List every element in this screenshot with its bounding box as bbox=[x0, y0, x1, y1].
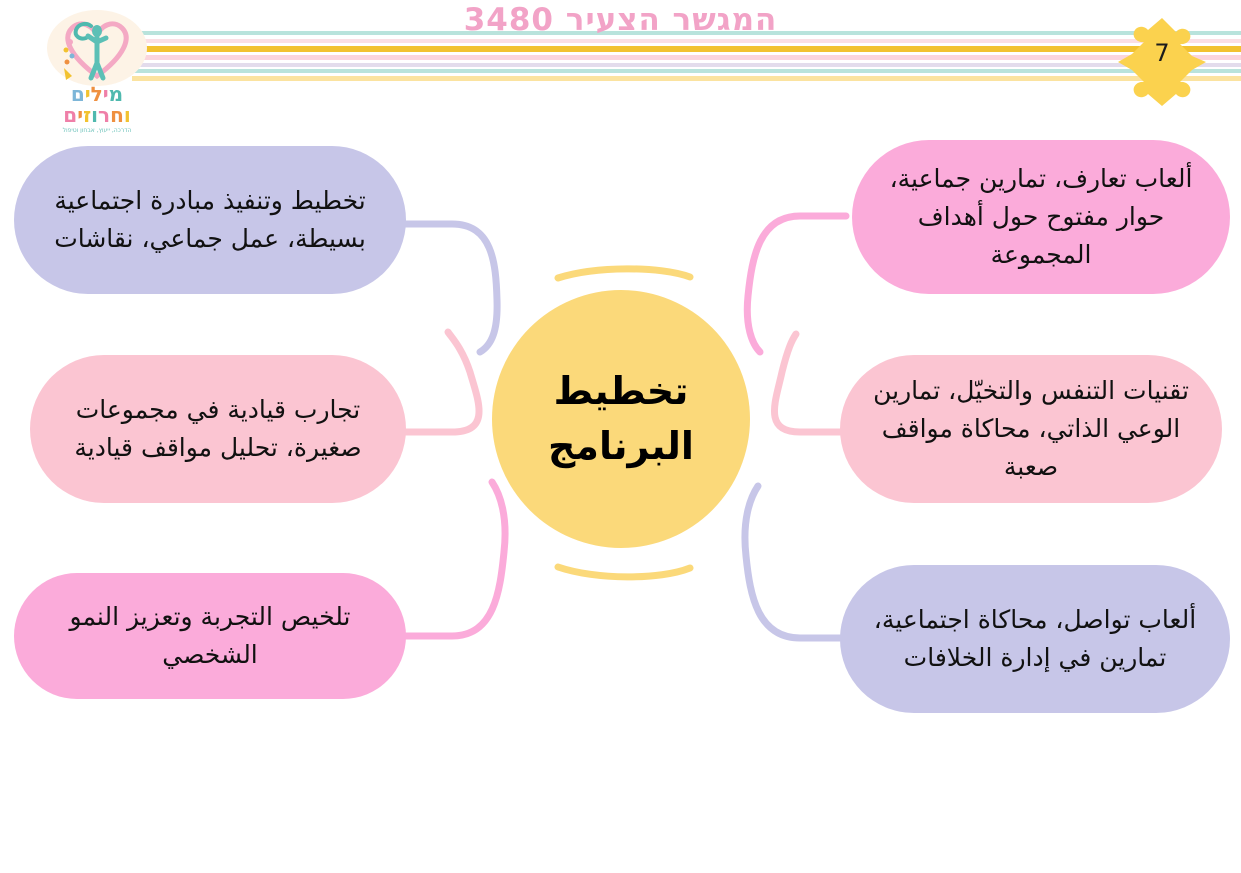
center-node-label: تخطيط البرنامج bbox=[492, 364, 750, 474]
branch-node-left-top[interactable]: تخطيط وتنفيذ مبادرة اجتماعية بسيطة، عمل … bbox=[14, 146, 406, 294]
branch-node-left-bottom[interactable]: تلخيص التجربة وتعزيز النمو الشخصي bbox=[14, 573, 406, 699]
branch-node-label: تجارب قيادية في مجموعات صغيرة، تحليل موا… bbox=[56, 391, 380, 467]
logo: מילים וחרוזים הדרכה, ייעוץ, אבחון וטיפול bbox=[36, 8, 158, 134]
branch-node-right-middle[interactable]: تقنيات التنفس والتخيّل، تمارين الوعي الذ… bbox=[840, 355, 1222, 503]
page-number: 7 bbox=[1114, 39, 1210, 67]
branch-node-label: تخطيط وتنفيذ مبادرة اجتماعية بسيطة، عمل … bbox=[40, 182, 380, 258]
branch-node-right-top[interactable]: ألعاب تعارف، تمارين جماعية، حوار مفتوح ح… bbox=[852, 140, 1230, 294]
branch-node-left-middle[interactable]: تجارب قيادية في مجموعات صغيرة، تحليل موا… bbox=[30, 355, 406, 503]
branch-node-label: تقنيات التنفس والتخيّل، تمارين الوعي الذ… bbox=[866, 372, 1196, 486]
logo-tagline: הדרכה, ייעוץ, אבחון וטיפול bbox=[36, 128, 158, 134]
branch-node-label: تلخيص التجربة وتعزيز النمو الشخصي bbox=[40, 598, 380, 674]
slide-canvas: המגשר הצעיר 3480 מילים וחרוזים הדרכה, יי… bbox=[0, 0, 1241, 873]
branch-node-right-bottom[interactable]: ألعاب تواصل، محاكاة اجتماعية، تمارين في … bbox=[840, 565, 1230, 713]
branch-node-label: ألعاب تعارف، تمارين جماعية، حوار مفتوح ح… bbox=[878, 160, 1204, 274]
page-title: המגשר הצעיר 3480 bbox=[0, 2, 1241, 38]
center-node[interactable]: تخطيط البرنامج bbox=[492, 290, 750, 548]
logo-line-1: מילים bbox=[36, 84, 158, 104]
logo-line-2: וחרוזים bbox=[36, 105, 158, 125]
branch-node-label: ألعاب تواصل، محاكاة اجتماعية، تمارين في … bbox=[866, 601, 1204, 677]
logo-wordmark: מילים וחרוזים הדרכה, ייעוץ, אבחון וטיפול bbox=[36, 84, 158, 134]
